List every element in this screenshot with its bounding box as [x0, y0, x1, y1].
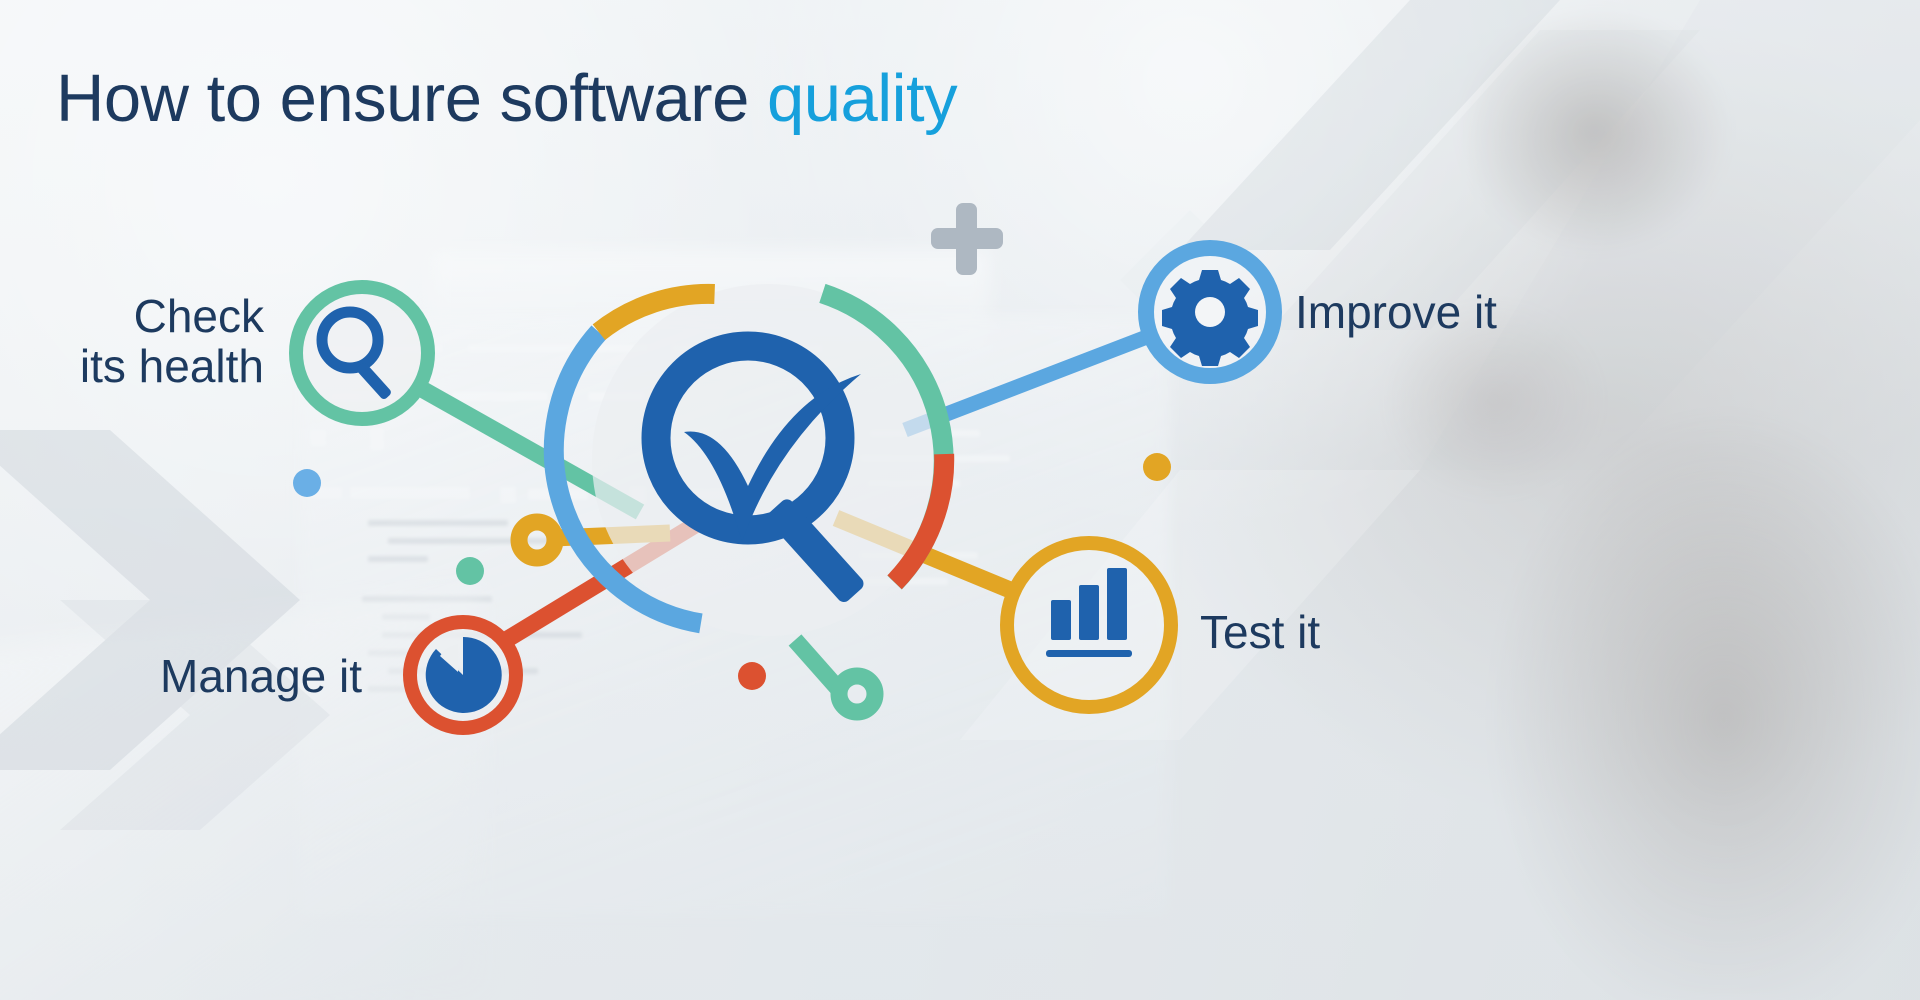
- node-manage-it[interactable]: [410, 622, 516, 728]
- node-label-test-it[interactable]: Test it: [1200, 608, 1320, 658]
- software-quality-hub[interactable]: [554, 284, 983, 636]
- plus-mark: [931, 203, 1003, 275]
- accent-dot-green: [456, 557, 484, 585]
- page-title-main: How to ensure software: [56, 61, 767, 136]
- node-label-check-its-health[interactable]: Check its health: [36, 292, 264, 391]
- node-label-improve-it[interactable]: Improve it: [1295, 288, 1497, 338]
- node-graph: [0, 0, 1920, 1000]
- accent-ring-green: [839, 676, 875, 712]
- node-label-manage-it[interactable]: Manage it: [160, 652, 362, 702]
- accent-dot-amber: [1143, 453, 1171, 481]
- node-improve-it[interactable]: [1146, 248, 1274, 376]
- accent-dot-red: [738, 662, 766, 690]
- node-check-its-health[interactable]: [296, 287, 428, 419]
- accent-dot-blue: [293, 469, 321, 497]
- infographic-canvas: How to ensure software quality Check its…: [0, 0, 1920, 1000]
- page-title-accent: quality: [767, 61, 957, 136]
- page-title: How to ensure software quality: [56, 60, 957, 137]
- node-test-it[interactable]: [1007, 543, 1171, 707]
- accent-ring-amber: [519, 522, 555, 558]
- gear-icon: [1162, 270, 1258, 366]
